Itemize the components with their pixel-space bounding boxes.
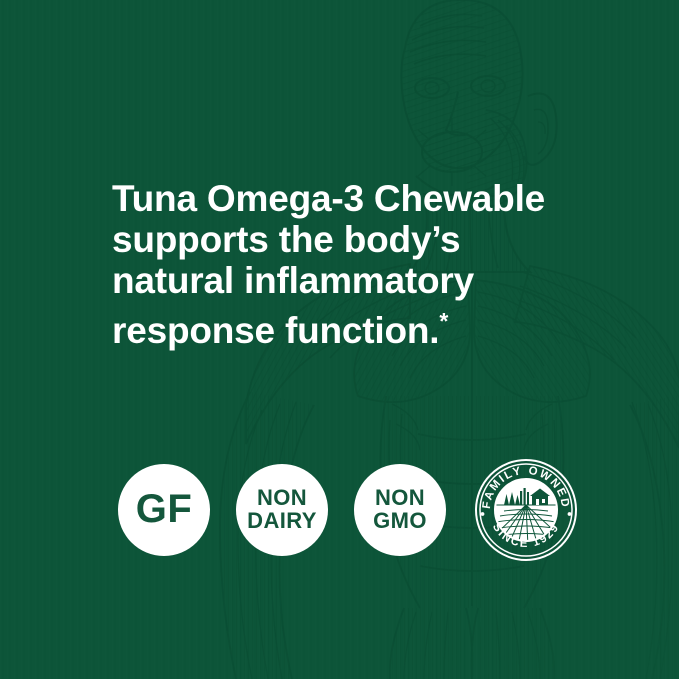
badge-non-dairy: NON DAIRY	[236, 464, 328, 556]
badge-non-gmo: NON GMO	[354, 464, 446, 556]
headline-text: Tuna Omega-3 Chewable supports the body’…	[112, 178, 545, 351]
badge-non-dairy-label: NON DAIRY	[247, 487, 317, 533]
badge-gluten-free-label: GF	[136, 489, 193, 531]
seal-dot-left	[481, 512, 485, 516]
asterisk-footnote-marker: *	[439, 308, 448, 334]
badge-gluten-free: GF	[118, 464, 210, 556]
product-feature-panel: Tuna Omega-3 Chewable supports the body’…	[0, 0, 679, 679]
badge-non-gmo-label: NON GMO	[373, 487, 427, 533]
page-title: Tuna Omega-3 Chewable supports the body’…	[112, 178, 582, 351]
certification-badge-row: GF NON DAIRY NON GMO	[118, 458, 578, 562]
seal-dot-right	[568, 512, 572, 516]
family-owned-seal: FAMILY OWNED SINCE 1929	[474, 458, 578, 562]
